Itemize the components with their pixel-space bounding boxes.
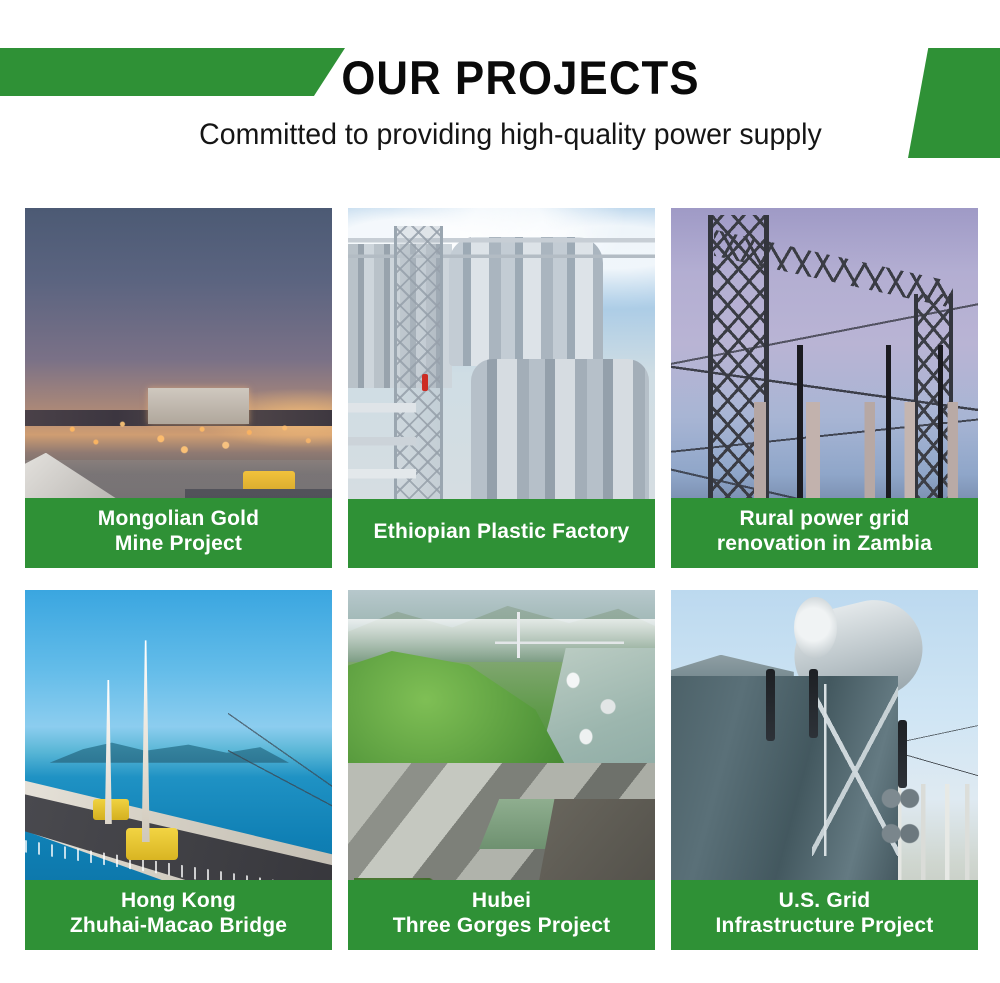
caption-line-1: Hubei	[352, 889, 651, 914]
project-card-zambia-rural-power-grid[interactable]: Rural power grid renovation in Zambia	[671, 208, 978, 568]
project-caption: Rural power grid renovation in Zambia	[671, 498, 978, 568]
caption-line-2: Zhuhai-Macao Bridge	[29, 914, 328, 939]
project-caption: U.S. Grid Infrastructure Project	[671, 880, 978, 950]
caption-line-1: Hong Kong	[29, 889, 328, 914]
caption-line-2: Infrastructure Project	[675, 914, 974, 939]
page-subtitle: Committed to providing high-quality powe…	[25, 118, 975, 152]
page-header: OUR PROJECTS Committed to providing high…	[0, 0, 1000, 200]
project-card-ethiopian-plastic-factory[interactable]: Ethiopian Plastic Factory	[348, 208, 655, 568]
caption-line-2: renovation in Zambia	[675, 532, 974, 557]
caption-line-1: U.S. Grid	[675, 889, 974, 914]
caption-line-1: Mongolian Gold	[29, 507, 328, 532]
project-caption: Mongolian Gold Mine Project	[25, 498, 332, 568]
caption-line-1: Rural power grid	[675, 507, 974, 532]
project-card-hong-kong-zhuhai-macao-bridge[interactable]: Hong Kong Zhuhai-Macao Bridge	[25, 590, 332, 950]
page-title: OUR PROJECTS	[35, 50, 965, 105]
project-caption: Hubei Three Gorges Project	[348, 880, 655, 950]
caption-line-1: Ethiopian Plastic Factory	[352, 520, 651, 545]
projects-grid: Mongolian Gold Mine Project Ethiopian Pl…	[25, 208, 977, 950]
project-caption: Ethiopian Plastic Factory	[348, 499, 655, 568]
project-caption: Hong Kong Zhuhai-Macao Bridge	[25, 880, 332, 950]
project-card-mongolian-gold-mine[interactable]: Mongolian Gold Mine Project	[25, 208, 332, 568]
project-card-hubei-three-gorges[interactable]: Hubei Three Gorges Project	[348, 590, 655, 950]
caption-line-2: Three Gorges Project	[352, 914, 651, 939]
caption-line-2: Mine Project	[29, 532, 328, 557]
project-card-us-grid-infrastructure[interactable]: U.S. Grid Infrastructure Project	[671, 590, 978, 950]
